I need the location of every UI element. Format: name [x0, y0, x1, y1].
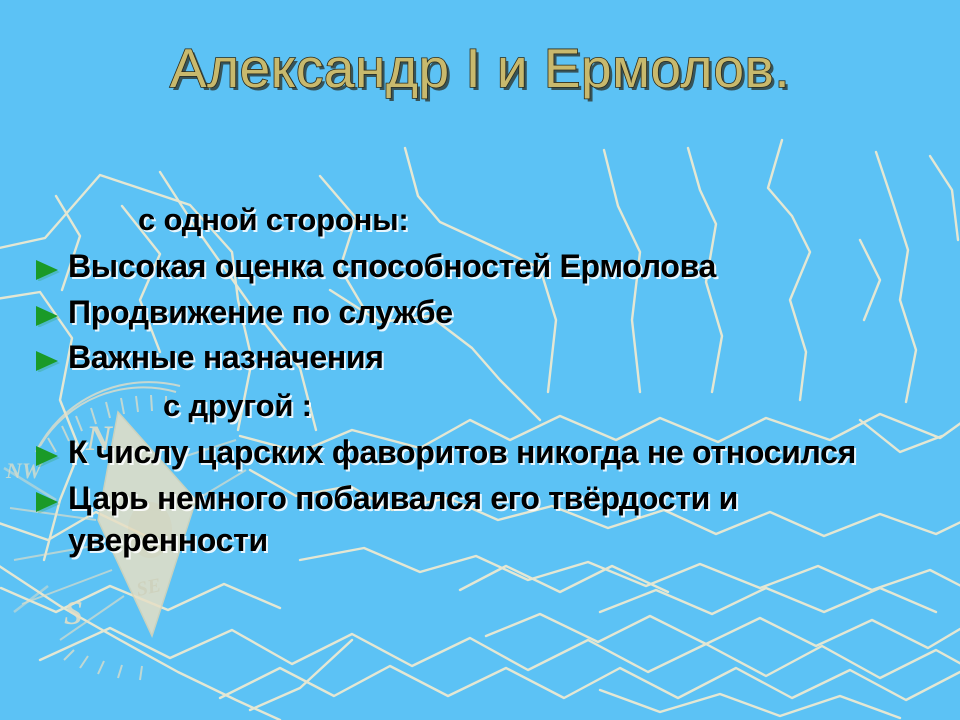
list-item[interactable]: Высокая оценка способностей Ермолова [34, 246, 934, 288]
lead-line-one: с одной стороны: [34, 200, 934, 240]
title-block: Александр I и Ермолов. [0, 40, 960, 98]
green-triangle-bullet-icon [34, 337, 68, 372]
lead-line-two: с другой : [34, 386, 934, 426]
presentation-slide: N S NW SE Александр I и Ермолов. с одной… [0, 0, 960, 720]
compass-south-label: S [64, 595, 83, 632]
slide-body: с одной стороны: Высокая оценка способно… [34, 200, 934, 565]
list-item[interactable]: Продвижение по службе [34, 292, 934, 334]
list-item[interactable]: К числу царских фаворитов никогда не отн… [34, 432, 934, 474]
list-item-label: Продвижение по службе [68, 292, 934, 334]
green-triangle-bullet-icon [34, 478, 68, 513]
green-triangle-bullet-icon [34, 246, 68, 281]
page-title: Александр I и Ермолов. [170, 40, 790, 98]
compass-se-label: SE [134, 574, 163, 601]
list-item-label: Царь немного побаивался его твёрдости и … [68, 478, 934, 561]
list-item-label: Важные назначения [68, 337, 934, 379]
list-item[interactable]: Важные назначения [34, 337, 934, 379]
list-item-label: Высокая оценка способностей Ермолова [68, 246, 934, 288]
green-triangle-bullet-icon [34, 292, 68, 327]
green-triangle-bullet-icon [34, 432, 68, 467]
list-item-label: К числу царских фаворитов никогда не отн… [68, 432, 934, 474]
list-item[interactable]: Царь немного побаивался его твёрдости и … [34, 478, 934, 561]
